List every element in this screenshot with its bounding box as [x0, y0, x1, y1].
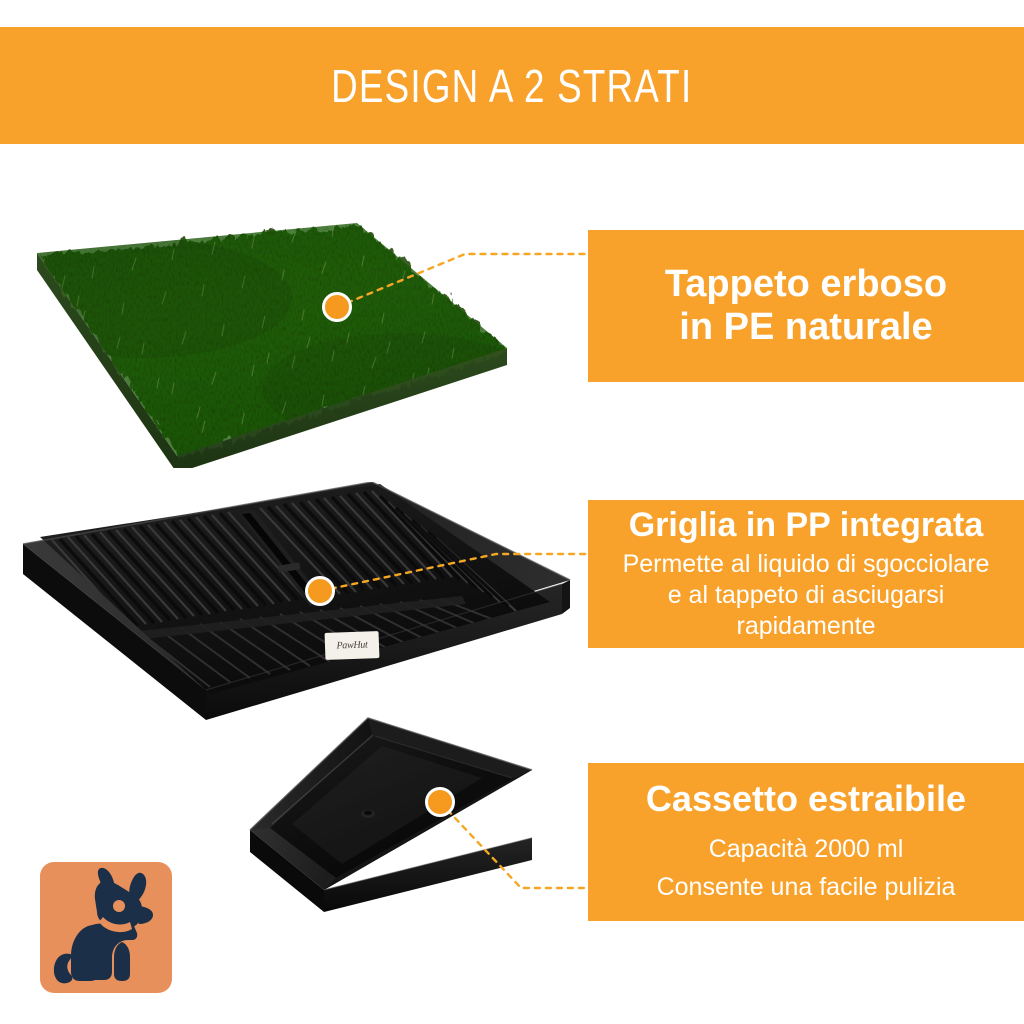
callout-card-drawer-tray: Cassetto estraibile Capacità 2000 ml Con… [588, 763, 1024, 921]
sticker-brand-text: PawHut [336, 639, 367, 651]
header-banner: DESIGN A 2 STRATI [0, 27, 1024, 144]
dog-icon [40, 862, 172, 993]
card-1-title: Tappeto erboso in PE naturale [665, 263, 947, 350]
callout-card-grid-tray: Griglia in PP integrata Permette al liqu… [588, 500, 1024, 648]
card-1-title-line-1: Tappeto erboso [665, 263, 947, 306]
callout-card-grass-mat: Tappeto erboso in PE naturale [588, 230, 1024, 382]
infographic-page: DESIGN A 2 STRATI [0, 0, 1024, 1024]
dog-eye [113, 900, 125, 912]
callout-dot-drawer-tray[interactable] [425, 787, 455, 817]
card-2-body-line-1: Permette al liquido di sgocciolare [623, 549, 990, 580]
card-2-title: Griglia in PP integrata [629, 506, 984, 545]
product-image-grid-tray [10, 482, 590, 722]
card-2-body-line-2: e al tappeto di asciugarsi [623, 580, 990, 611]
card-3-body-line-2: Consente una facile pulizia [657, 869, 956, 907]
product-image-drawer-tray [232, 712, 612, 930]
pawhut-brand-sticker: PawHut [325, 631, 380, 660]
callout-dot-grass-mat[interactable] [322, 292, 352, 322]
brand-logo-badge [40, 862, 172, 993]
card-2-body-line-3: rapidamente [623, 611, 990, 642]
card-1-title-line-2: in PE naturale [665, 306, 947, 349]
callout-dot-grid-tray[interactable] [305, 576, 335, 606]
card-3-body-line-1: Capacità 2000 ml [657, 831, 956, 869]
card-2-body: Permette al liquido di sgocciolare e al … [623, 549, 990, 642]
page-title: DESIGN A 2 STRATI [331, 59, 692, 113]
product-image-grass-mat [22, 218, 522, 468]
card-3-title: Cassetto estraibile [646, 778, 966, 819]
card-3-body: Capacità 2000 ml Consente una facile pul… [657, 831, 956, 906]
